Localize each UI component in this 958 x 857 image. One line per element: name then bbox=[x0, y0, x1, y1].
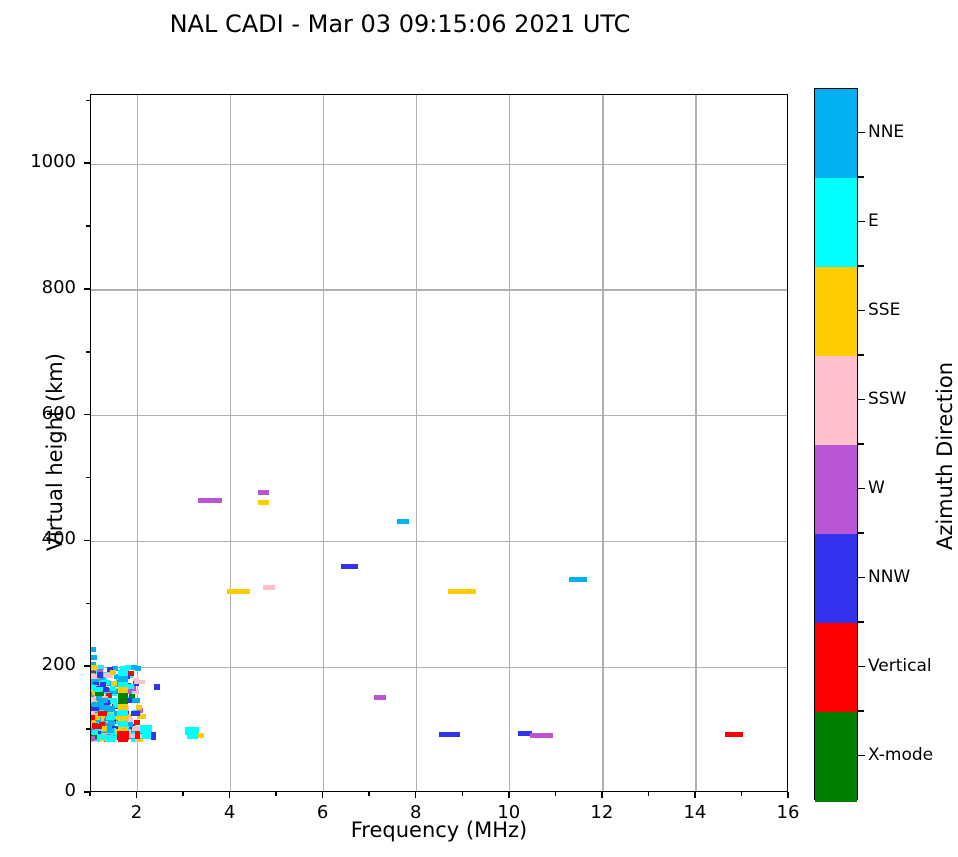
y-axis-title: Virtual height (km) bbox=[43, 172, 67, 732]
x-axis-tick bbox=[694, 792, 696, 798]
colorbar-label-e: E bbox=[868, 211, 879, 231]
echo-point bbox=[134, 720, 140, 725]
echo-point bbox=[91, 715, 95, 720]
echo-point bbox=[91, 736, 95, 741]
x-axis-minor-tick bbox=[648, 792, 650, 796]
x-axis-tick bbox=[787, 792, 789, 798]
echo-point bbox=[99, 698, 108, 703]
echo-point bbox=[131, 711, 140, 716]
echo-point bbox=[187, 731, 198, 739]
x-axis-minor-tick bbox=[462, 792, 464, 796]
colorbar bbox=[814, 88, 858, 800]
echo-point bbox=[91, 647, 96, 652]
colorbar-tick bbox=[858, 221, 865, 223]
x-axis-tick bbox=[229, 792, 231, 798]
echo-point bbox=[91, 655, 97, 660]
colorbar-label-vertical: Vertical bbox=[868, 656, 932, 676]
colorbar-segment bbox=[815, 534, 857, 624]
echo-point bbox=[109, 721, 115, 726]
plot-canvas bbox=[91, 95, 787, 791]
x-axis-minor-tick bbox=[368, 792, 370, 796]
colorbar-tick bbox=[858, 488, 865, 490]
y-axis-tick bbox=[84, 288, 90, 290]
echo-point bbox=[154, 684, 160, 690]
colorbar-segment bbox=[815, 178, 857, 268]
x-axis-title: Frequency (MHz) bbox=[90, 818, 788, 842]
gridline-vertical bbox=[602, 95, 603, 791]
echo-trace bbox=[374, 695, 387, 700]
colorbar-boundary-tick bbox=[858, 354, 864, 356]
echo-point bbox=[135, 731, 140, 739]
y-axis-minor-tick bbox=[86, 351, 90, 353]
colorbar-tick bbox=[858, 310, 865, 312]
echo-point bbox=[107, 713, 113, 718]
y-axis-tick-label: 1000 bbox=[6, 151, 76, 172]
colorbar-segment bbox=[815, 356, 857, 446]
echo-point bbox=[93, 687, 102, 692]
x-axis-tick bbox=[322, 792, 324, 798]
echo-point bbox=[131, 698, 140, 703]
y-axis-tick-label: 0 bbox=[6, 780, 76, 801]
colorbar-boundary-tick bbox=[858, 710, 864, 712]
x-axis-minor-tick bbox=[275, 792, 277, 796]
echo-point bbox=[131, 665, 137, 670]
x-axis-tick bbox=[136, 792, 138, 798]
gridline-horizontal bbox=[91, 289, 787, 290]
x-axis-minor-tick bbox=[89, 792, 91, 796]
colorbar-label-sse: SSE bbox=[868, 300, 900, 320]
x-axis-minor-tick bbox=[182, 792, 184, 796]
gridline-vertical bbox=[323, 95, 324, 791]
colorbar-segment bbox=[815, 89, 857, 179]
echo-point bbox=[98, 711, 107, 716]
echo-trace bbox=[198, 498, 222, 503]
echo-trace bbox=[439, 732, 459, 737]
echo-point bbox=[97, 673, 103, 678]
echo-point bbox=[91, 674, 97, 679]
gridline-horizontal bbox=[91, 541, 787, 542]
colorbar-boundary-tick bbox=[858, 176, 864, 178]
echo-point bbox=[110, 670, 116, 675]
echo-trace bbox=[341, 564, 358, 569]
colorbar-tick bbox=[858, 666, 865, 668]
echo-point bbox=[105, 736, 114, 741]
gridline-horizontal bbox=[91, 164, 787, 165]
echo-trace bbox=[530, 733, 552, 738]
ionogram-figure: NAL CADI - Mar 03 09:15:06 2021 UTC 2468… bbox=[0, 0, 958, 857]
echo-point bbox=[100, 682, 106, 687]
gridline-vertical bbox=[695, 95, 696, 791]
gridline-vertical bbox=[509, 95, 510, 791]
y-axis-tick bbox=[84, 540, 90, 542]
x-axis-tick bbox=[601, 792, 603, 798]
y-axis-minor-tick bbox=[86, 728, 90, 730]
y-axis-minor-tick bbox=[86, 225, 90, 227]
y-axis-minor-tick bbox=[86, 100, 90, 102]
echo-point bbox=[151, 732, 157, 740]
echo-point bbox=[110, 686, 116, 691]
echo-trace bbox=[258, 500, 269, 505]
y-axis-minor-tick bbox=[86, 603, 90, 605]
echo-point bbox=[128, 684, 134, 689]
colorbar-boundary-tick bbox=[858, 621, 864, 623]
gridline-vertical bbox=[230, 95, 231, 791]
colorbar-tick bbox=[858, 577, 865, 579]
echo-point bbox=[117, 731, 129, 740]
echo-trace bbox=[397, 519, 409, 524]
echo-point bbox=[198, 733, 204, 738]
colorbar-label-w: W bbox=[868, 478, 885, 498]
gridline-horizontal bbox=[91, 667, 787, 668]
x-axis-tick bbox=[508, 792, 510, 798]
colorbar-label-nnw: NNW bbox=[868, 567, 910, 587]
gridline-horizontal bbox=[91, 415, 787, 416]
y-axis-tick bbox=[84, 162, 90, 164]
gridline-vertical bbox=[416, 95, 417, 791]
echo-trace bbox=[263, 585, 275, 590]
colorbar-boundary-tick bbox=[858, 443, 864, 445]
colorbar-tick bbox=[858, 132, 865, 134]
plot-area bbox=[90, 94, 788, 792]
echo-trace bbox=[258, 490, 269, 495]
chart-title: NAL CADI - Mar 03 09:15:06 2021 UTC bbox=[0, 10, 800, 38]
y-axis-tick bbox=[84, 414, 90, 416]
colorbar-label-x-mode: X-mode bbox=[868, 745, 933, 765]
colorbar-boundary-tick bbox=[858, 532, 864, 534]
x-axis-minor-tick bbox=[741, 792, 743, 796]
echo-point bbox=[136, 705, 142, 710]
colorbar-tick bbox=[858, 755, 865, 757]
echo-point bbox=[93, 724, 102, 729]
colorbar-label-ssw: SSW bbox=[868, 389, 906, 409]
y-axis-tick bbox=[84, 665, 90, 667]
y-axis-minor-tick bbox=[86, 477, 90, 479]
colorbar-tick bbox=[858, 399, 865, 401]
echo-point bbox=[92, 730, 98, 735]
colorbar-label-nne: NNE bbox=[868, 122, 904, 142]
x-axis-tick bbox=[415, 792, 417, 798]
colorbar-segment bbox=[815, 267, 857, 357]
echo-point bbox=[97, 734, 103, 739]
echo-trace bbox=[227, 589, 250, 594]
colorbar-segment bbox=[815, 712, 857, 802]
colorbar-segment bbox=[815, 445, 857, 535]
colorbar-segment bbox=[815, 623, 857, 713]
x-axis-minor-tick bbox=[555, 792, 557, 796]
colorbar-boundary-tick bbox=[858, 265, 864, 267]
colorbar-title: Azimuth Direction bbox=[933, 306, 957, 606]
echo-trace bbox=[569, 577, 587, 582]
echo-point bbox=[99, 705, 108, 710]
echo-trace bbox=[725, 732, 744, 737]
echo-point bbox=[134, 680, 145, 684]
gridline-vertical bbox=[137, 95, 138, 791]
echo-trace bbox=[448, 589, 476, 594]
echo-point bbox=[91, 665, 98, 670]
echo-point bbox=[103, 687, 109, 692]
